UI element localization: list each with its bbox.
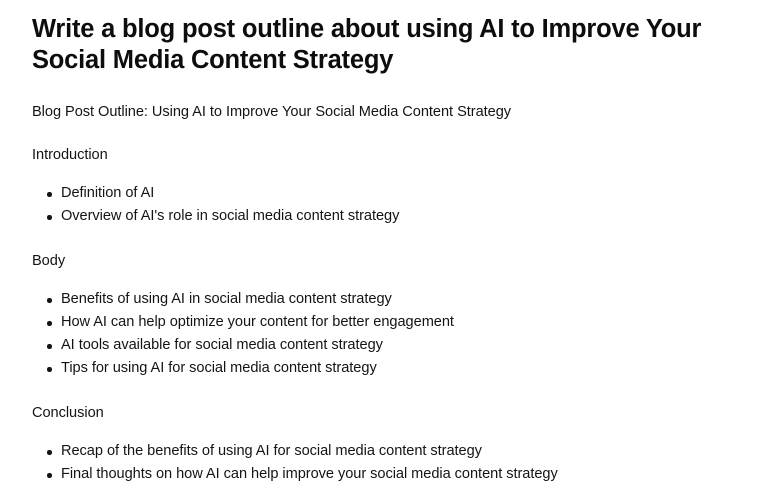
list-item: Definition of AI	[32, 182, 736, 205]
list-item-label: Overview of AI's role in social media co…	[61, 208, 399, 224]
page-title: Write a blog post outline about using AI…	[32, 0, 736, 76]
bullet-dot-icon	[47, 473, 52, 478]
bullet-list-body: Benefits of using AI in social media con…	[32, 271, 736, 380]
section-heading-introduction: Introduction	[32, 122, 736, 165]
list-item-label: Final thoughts on how AI can help improv…	[61, 466, 558, 482]
section-body: Body Benefits of using AI in social medi…	[32, 228, 736, 380]
list-item-label: Tips for using AI for social media conte…	[61, 360, 377, 376]
bullet-dot-icon	[47, 321, 52, 326]
section-conclusion: Conclusion Recap of the benefits of usin…	[32, 380, 736, 486]
outline-intro-paragraph: Blog Post Outline: Using AI to Improve Y…	[32, 76, 736, 122]
list-item: How AI can help optimize your content fo…	[32, 311, 736, 334]
list-item: Recap of the benefits of using AI for so…	[32, 440, 736, 463]
bullet-dot-icon	[47, 367, 52, 372]
bullet-dot-icon	[47, 192, 52, 197]
list-item: Tips for using AI for social media conte…	[32, 357, 736, 380]
bullet-dot-icon	[47, 298, 52, 303]
bullet-dot-icon	[47, 450, 52, 455]
section-heading-body: Body	[32, 228, 736, 271]
list-item: Benefits of using AI in social media con…	[32, 288, 736, 311]
section-introduction: Introduction Definition of AI Overview o…	[32, 122, 736, 228]
bullet-dot-icon	[47, 344, 52, 349]
bullet-list-conclusion: Recap of the benefits of using AI for so…	[32, 423, 736, 486]
section-heading-conclusion: Conclusion	[32, 380, 736, 423]
list-item-label: Benefits of using AI in social media con…	[61, 291, 392, 307]
list-item-label: Definition of AI	[61, 185, 154, 201]
bullet-dot-icon	[47, 215, 52, 220]
list-item: Overview of AI's role in social media co…	[32, 205, 736, 228]
list-item-label: Recap of the benefits of using AI for so…	[61, 443, 482, 459]
bullet-list-introduction: Definition of AI Overview of AI's role i…	[32, 165, 736, 228]
list-item: AI tools available for social media cont…	[32, 334, 736, 357]
list-item-label: AI tools available for social media cont…	[61, 337, 383, 353]
document-page: Write a blog post outline about using AI…	[0, 0, 766, 489]
list-item-label: How AI can help optimize your content fo…	[61, 314, 454, 330]
list-item: Final thoughts on how AI can help improv…	[32, 463, 736, 486]
